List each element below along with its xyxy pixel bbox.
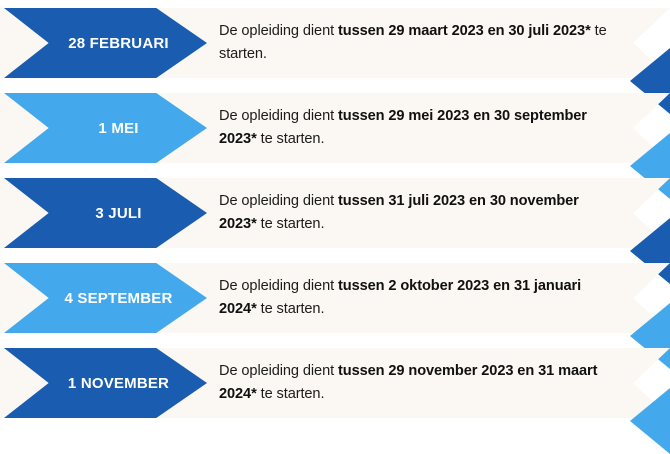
description-prefix: De opleiding dient <box>219 108 338 124</box>
description-prefix: De opleiding dient <box>219 363 338 379</box>
timeline-graphic: 28 FEBRUARIDe opleiding dient tussen 29 … <box>0 0 670 429</box>
description-suffix: te starten. <box>257 216 325 232</box>
date-label: 1 NOVEMBER <box>42 376 169 391</box>
row-description: De opleiding dient tussen 29 november 20… <box>219 348 619 418</box>
description-prefix: De opleiding dient <box>219 193 338 209</box>
timeline-row: 3 JULIDe opleiding dient tussen 31 juli … <box>0 170 670 255</box>
timeline-row: 28 FEBRUARIDe opleiding dient tussen 29 … <box>0 0 670 85</box>
timeline-row: 1 MEIDe opleiding dient tussen 29 mei 20… <box>0 85 670 170</box>
timeline-row: 4 SEPTEMBERDe opleiding dient tussen 2 o… <box>0 255 670 340</box>
description-prefix: De opleiding dient <box>219 23 338 39</box>
description-suffix: te starten. <box>257 131 325 147</box>
date-label: 28 FEBRUARI <box>42 36 169 51</box>
row-description: De opleiding dient tussen 29 maart 2023 … <box>219 8 619 78</box>
date-label: 1 MEI <box>72 121 138 136</box>
timeline-row: 1 NOVEMBERDe opleiding dient tussen 29 n… <box>0 340 670 425</box>
description-dates: tussen 29 maart 2023 en 30 juli 2023* <box>338 23 591 39</box>
row-description: De opleiding dient tussen 29 mei 2023 en… <box>219 93 619 163</box>
description-suffix: te starten. <box>257 301 325 317</box>
date-label: 4 SEPTEMBER <box>38 291 172 306</box>
date-label: 3 JULI <box>69 206 141 221</box>
description-suffix: te starten. <box>257 386 325 402</box>
row-description: De opleiding dient tussen 2 oktober 2023… <box>219 263 619 333</box>
row-description: De opleiding dient tussen 31 juli 2023 e… <box>219 178 619 248</box>
description-prefix: De opleiding dient <box>219 278 338 294</box>
